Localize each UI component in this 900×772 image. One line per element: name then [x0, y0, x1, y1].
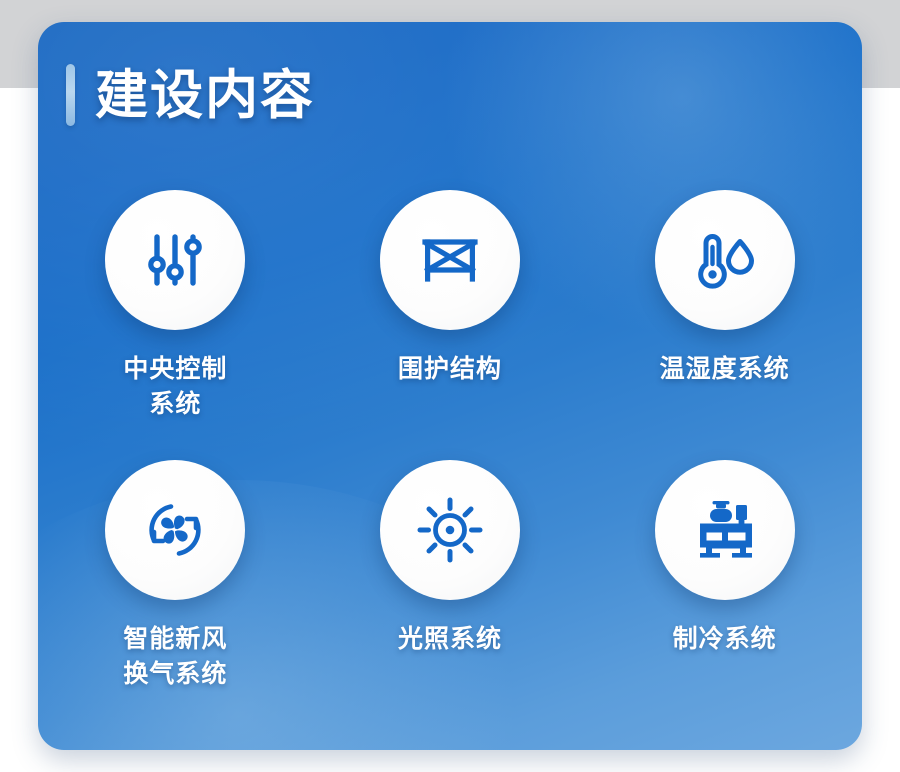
system-grid: 中央控制 系统 — [38, 190, 862, 730]
icon-bubble — [105, 190, 245, 330]
grid-item-label: 制冷系统 — [673, 622, 777, 657]
sun-brightness-icon — [412, 492, 488, 568]
grid-item-lighting-system[interactable]: 光照系统 — [313, 460, 588, 730]
grid-item-label: 光照系统 — [398, 622, 502, 657]
grid-item-refrigeration-system[interactable]: 制冷系统 — [587, 460, 862, 730]
grid-item-label: 温湿度系统 — [660, 352, 790, 387]
icon-bubble — [105, 460, 245, 600]
grid-item-smart-fresh-air-ventilation-system[interactable]: 智能新风 换气系统 — [38, 460, 313, 730]
grid-item-temperature-humidity-system[interactable]: 温湿度系统 — [587, 190, 862, 460]
icon-bubble — [655, 460, 795, 600]
grid-item-label: 围护结构 — [398, 352, 502, 387]
enclosure-frame-icon — [413, 223, 487, 297]
thermometer-humidity-icon — [688, 223, 762, 297]
title-accent-bar — [66, 64, 75, 126]
grid-item-enclosure-structure[interactable]: 围护结构 — [313, 190, 588, 460]
chiller-unit-icon — [686, 495, 764, 565]
title-text: 建设内容 — [95, 69, 315, 122]
construction-content-card: 建设内容 — [38, 22, 862, 750]
fan-ventilation-icon — [137, 492, 213, 568]
icon-bubble — [380, 190, 520, 330]
icon-bubble — [655, 190, 795, 330]
grid-item-central-control-system[interactable]: 中央控制 系统 — [38, 190, 313, 460]
grid-item-label: 中央控制 系统 — [123, 352, 227, 421]
sliders-icon — [138, 223, 212, 297]
page-title: 建设内容 — [66, 64, 315, 126]
grid-item-label: 智能新风 换气系统 — [123, 622, 227, 691]
icon-bubble — [380, 460, 520, 600]
